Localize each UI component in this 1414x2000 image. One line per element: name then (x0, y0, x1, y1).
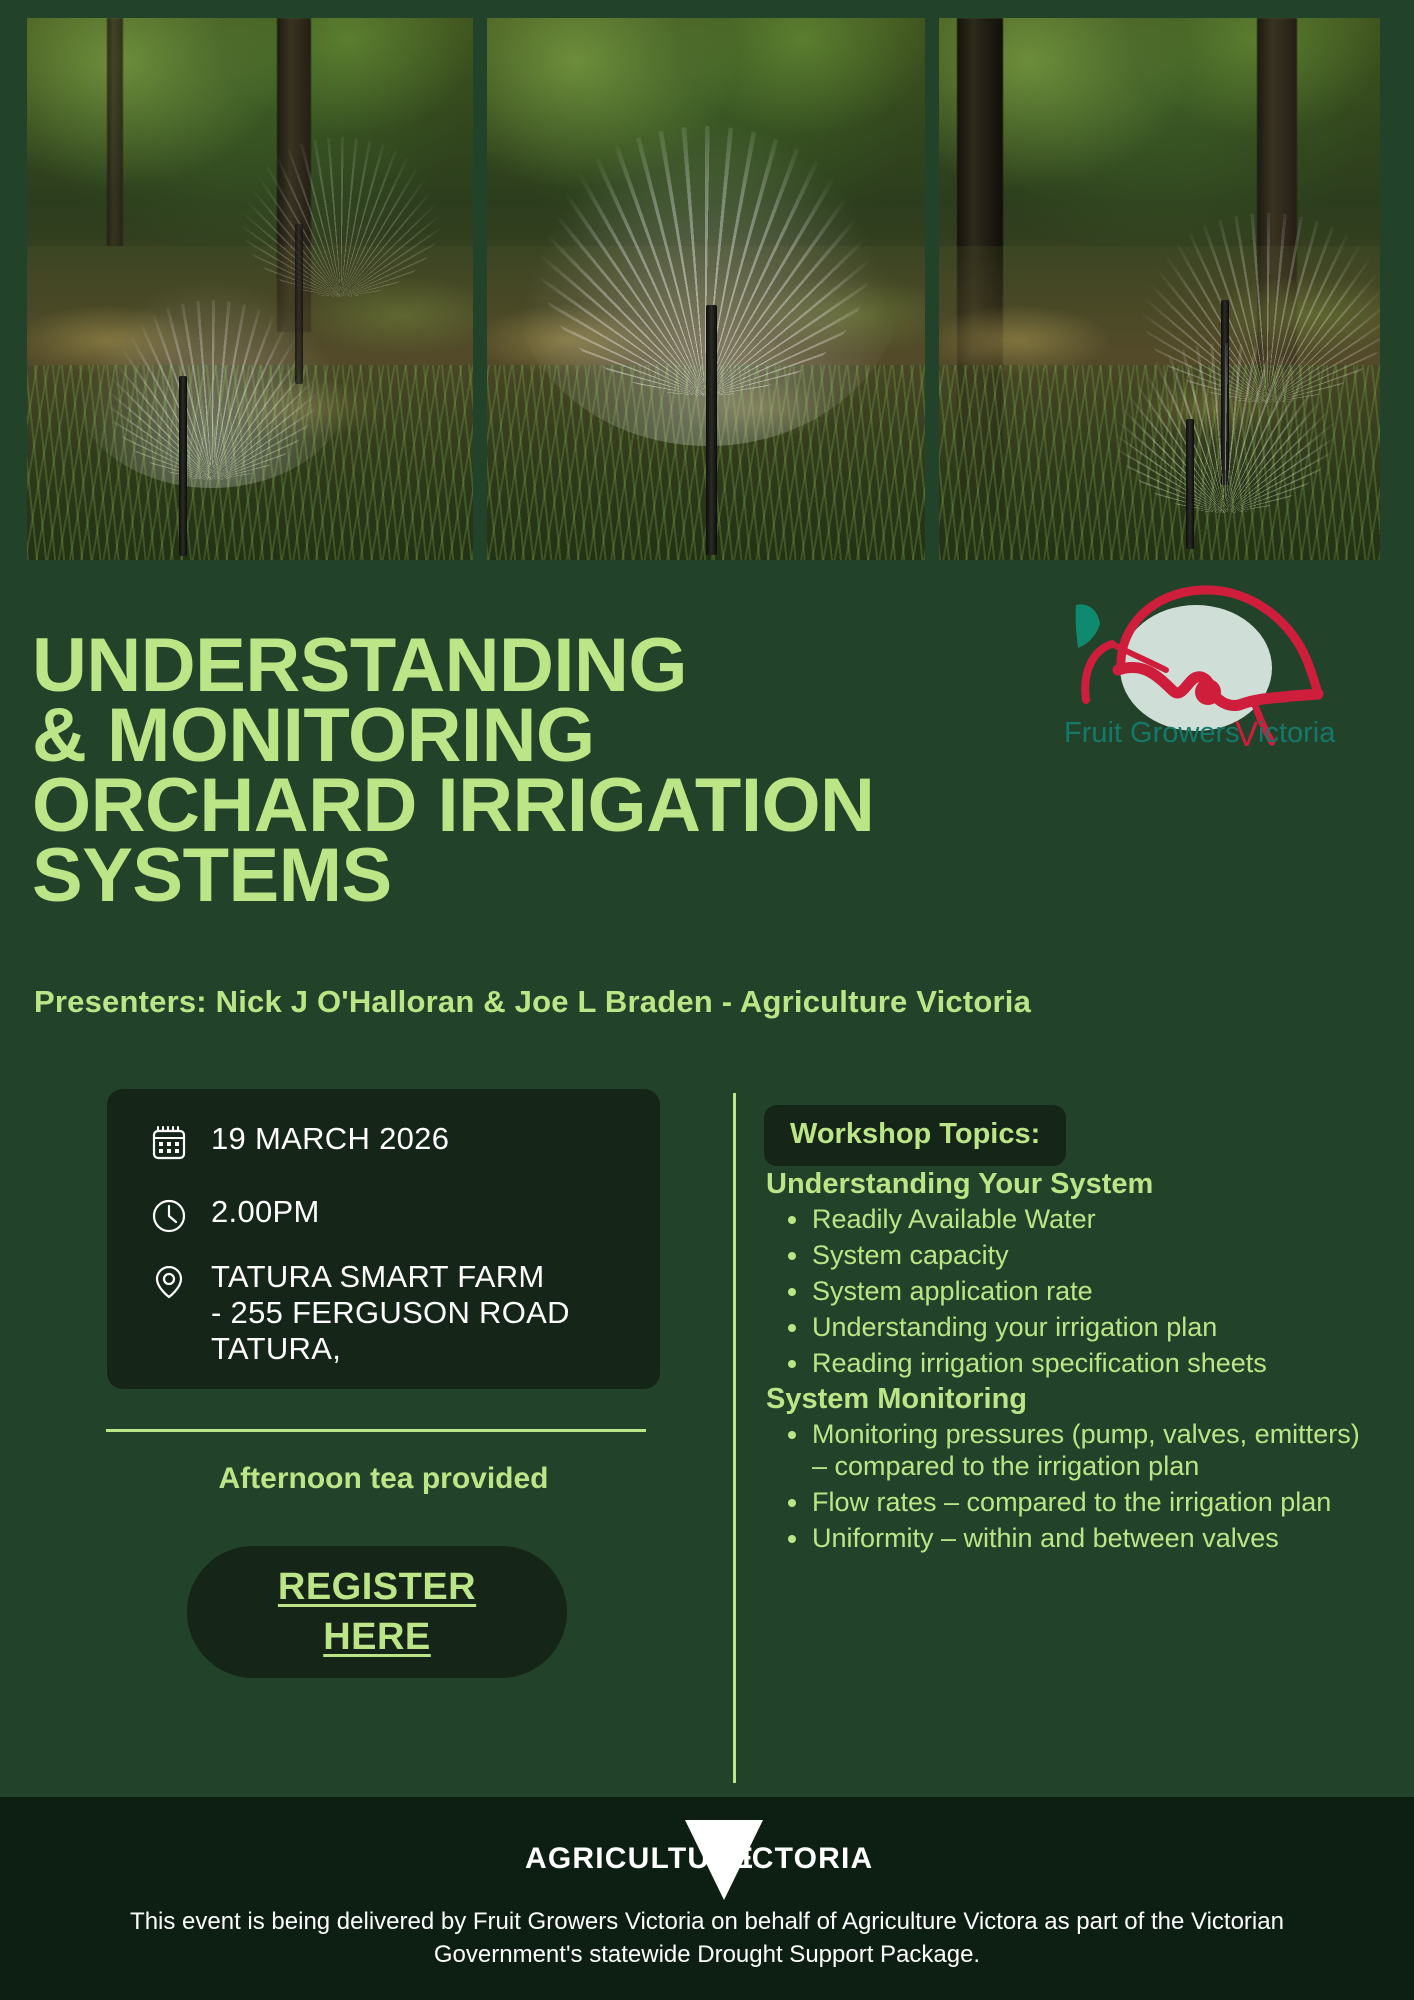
photo-strip (27, 18, 1380, 560)
footer-band: AGRICULTURE VICTORIA This event is being… (0, 1797, 1414, 2000)
list-item: Readily Available Water (812, 1203, 1376, 1235)
title-line-2: & MONITORING (32, 701, 1032, 771)
list-item: Reading irrigation specification sheets (812, 1347, 1376, 1379)
list-item: Monitoring pressures (pump, valves, emit… (812, 1418, 1376, 1482)
column-divider (733, 1093, 736, 1783)
sprinkler-riser (295, 224, 303, 384)
detail-time-text: 2.00PM (211, 1194, 320, 1230)
detail-row-location: TATURA SMART FARM - 255 FERGUSON ROAD TA… (107, 1259, 570, 1367)
footer-disclaimer: This event is being delivered by Fruit G… (0, 1905, 1414, 1971)
workshop-topics-badge: Workshop Topics: (764, 1105, 1066, 1166)
list-item: Flow rates – compared to the irrigation … (812, 1486, 1376, 1518)
topic-section-heading: Understanding Your System (766, 1168, 1376, 1201)
detail-location-line-3: TATURA, (211, 1331, 570, 1367)
orchard-photo-3 (939, 18, 1380, 560)
topic-list-understanding: Readily Available Water System capacity … (766, 1203, 1376, 1379)
workshop-topics-label: Workshop Topics: (790, 1118, 1040, 1150)
detail-date-text: 19 MARCH 2026 (211, 1121, 449, 1157)
poster-root: UNDERSTANDING & MONITORING ORCHARD IRRIG… (0, 0, 1414, 2000)
logo-text-victoria: VICTORIA (721, 1842, 873, 1875)
event-details-card: 19 MARCH 2026 2.00PM TATUR (107, 1089, 660, 1389)
orchard-photo-2 (487, 18, 925, 560)
calendar-icon (149, 1123, 189, 1163)
topic-section-heading: System Monitoring (766, 1383, 1376, 1416)
title-line-4: SYSTEMS (32, 841, 1032, 911)
sprinkler-spray (540, 126, 870, 396)
sprinkler-riser (706, 305, 717, 555)
topic-list-monitoring: Monitoring pressures (pump, valves, emit… (766, 1418, 1376, 1554)
sprinkler-spray (1115, 343, 1335, 513)
logo-text-agriculture: AGRICULTURE (525, 1842, 754, 1875)
title-line-1: UNDERSTANDING (32, 631, 1032, 701)
workshop-topics-body: Understanding Your System Readily Availa… (766, 1168, 1376, 1558)
agriculture-victoria-logo-svg: AGRICULTURE VICTORIA (517, 1816, 897, 1902)
orchard-photo-1 (27, 18, 473, 560)
detail-location-line-1: TATURA SMART FARM (211, 1259, 570, 1295)
footer-note-line-2: Government's statewide Drought Support P… (22, 1938, 1392, 1971)
title-line-3: ORCHARD IRRIGATION (32, 771, 1032, 841)
page-title: UNDERSTANDING & MONITORING ORCHARD IRRIG… (32, 631, 1032, 911)
list-item: System capacity (812, 1239, 1376, 1271)
location-pin-icon (149, 1261, 189, 1301)
left-column-divider (106, 1429, 646, 1432)
list-item: System application rate (812, 1275, 1376, 1307)
tree-trunk (107, 18, 123, 246)
agriculture-victoria-logo: AGRICULTURE VICTORIA (517, 1816, 897, 1902)
sprinkler-spray (241, 137, 441, 297)
afternoon-tea-note: Afternoon tea provided (107, 1462, 660, 1496)
detail-location-text: TATURA SMART FARM - 255 FERGUSON ROAD TA… (211, 1259, 570, 1367)
sprinkler-riser (1186, 419, 1194, 549)
detail-row-date: 19 MARCH 2026 (107, 1121, 449, 1163)
presenters-line: Presenters: Nick J O'Halloran & Joe L Br… (34, 984, 1031, 1020)
list-item: Understanding your irrigation plan (812, 1311, 1376, 1343)
logo-red-stem (1085, 644, 1112, 700)
fgv-wordmark-victoria: ictoria (1258, 717, 1336, 749)
fruit-growers-victoria-logo: Fruit Growers V ictoria (1026, 570, 1366, 760)
footer-note-line-1: This event is being delivered by Fruit G… (22, 1905, 1392, 1938)
detail-row-time: 2.00PM (107, 1194, 320, 1236)
clock-icon (149, 1196, 189, 1236)
fgv-wordmark: Fruit Growers (1064, 717, 1240, 749)
spray-mist (72, 278, 352, 488)
register-button[interactable]: REGISTER HERE (187, 1546, 567, 1678)
register-button-label: REGISTER HERE (278, 1562, 476, 1662)
detail-date-line: 19 MARCH 2026 (211, 1121, 449, 1157)
fgv-wordmark-v: V (1235, 715, 1259, 754)
register-label-line-1: REGISTER (278, 1562, 476, 1612)
sprinkler-riser (179, 376, 187, 556)
detail-time-line: 2.00PM (211, 1194, 320, 1230)
detail-location-line-2: - 255 FERGUSON ROAD (211, 1295, 570, 1331)
fgv-logo-svg: Fruit Growers V ictoria (1026, 570, 1366, 760)
list-item: Uniformity – within and between valves (812, 1522, 1376, 1554)
register-label-line-2: HERE (278, 1612, 476, 1662)
leaf-shape (1076, 604, 1100, 648)
logo-red-dot (1195, 679, 1221, 705)
